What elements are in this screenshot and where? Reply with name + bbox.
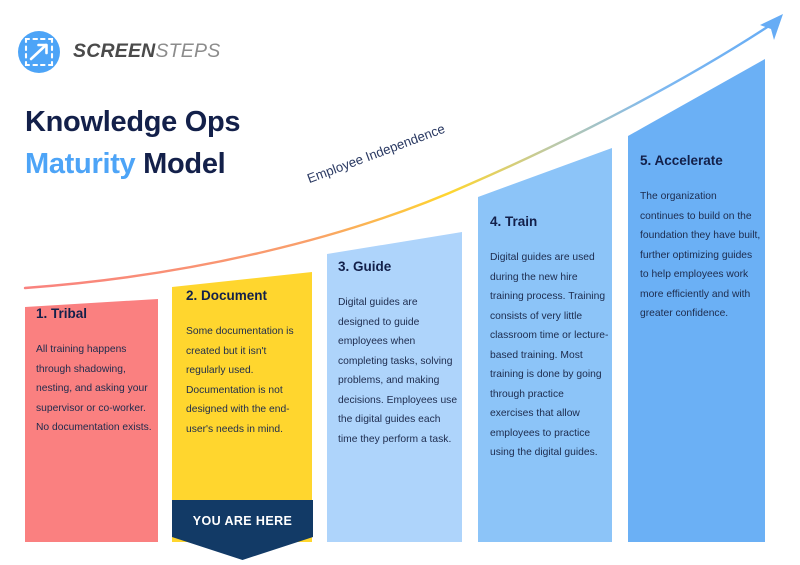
stage-card-2[interactable]: 2. Document Some documentation is create…	[186, 288, 306, 439]
stage-card-4[interactable]: 4. Train Digital guides are used during …	[490, 214, 610, 463]
screensteps-arrow-in-dashed-square-icon	[14, 27, 64, 77]
wordmark-screen: SCREEN	[73, 40, 155, 62]
stage-title-4: 4. Train	[490, 214, 610, 230]
stage-title-2: 2. Document	[186, 288, 306, 304]
stage-body-5: The organization continues to build on t…	[640, 187, 762, 324]
stage-card-5[interactable]: 5. Accelerate The organization continues…	[640, 153, 762, 324]
title-rest-word: Model	[143, 148, 225, 180]
stage-body-3: Digital guides are designed to guide emp…	[338, 293, 460, 449]
screensteps-logo: SCREENSTEPS	[14, 27, 220, 77]
stage-title-5: 5. Accelerate	[640, 153, 762, 169]
wordmark-steps: STEPS	[155, 40, 220, 62]
infographic-canvas: SCREENSTEPS Knowledge Ops Maturity Model…	[0, 0, 800, 565]
stage-body-4: Digital guides are used during the new h…	[490, 248, 610, 463]
title-line-1: Knowledge Ops	[25, 101, 445, 143]
up-right-arrow-icon	[760, 14, 783, 40]
stage-title-3: 3. Guide	[338, 259, 460, 275]
stage-card-3[interactable]: 3. Guide Digital guides are designed to …	[338, 259, 460, 449]
stage-card-1[interactable]: 1. Tribal All training happens through s…	[36, 306, 154, 438]
title-accent-word: Maturity	[25, 148, 135, 180]
you-are-here-marker: YOU ARE HERE	[172, 500, 313, 560]
stage-body-2: Some documentation is created but it isn…	[186, 322, 306, 439]
screensteps-wordmark: SCREENSTEPS	[73, 42, 220, 62]
stage-title-1: 1. Tribal	[36, 306, 154, 322]
you-are-here-label: YOU ARE HERE	[172, 500, 313, 542]
stage-body-1: All training happens through shadowing, …	[36, 340, 154, 438]
